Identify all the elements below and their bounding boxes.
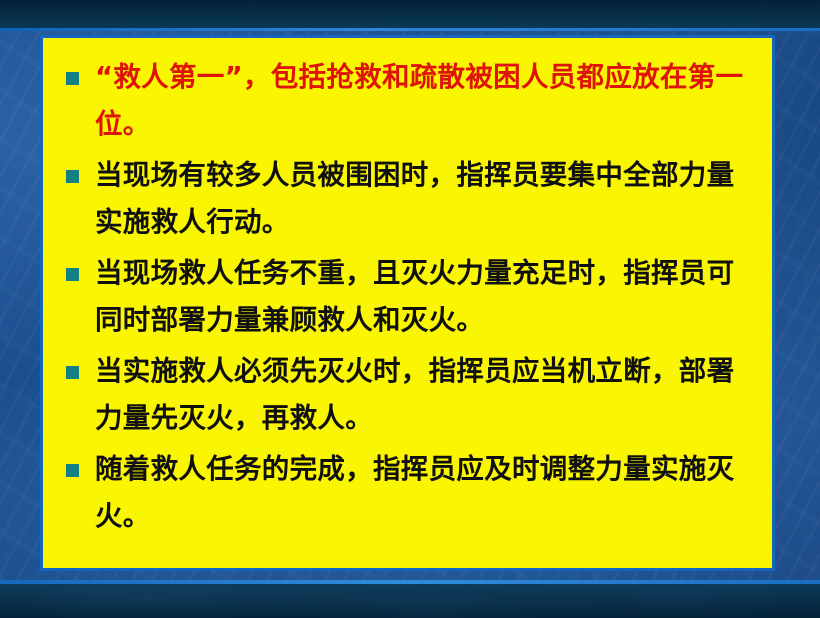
slide-top-accent-line — [0, 28, 820, 31]
list-item: 当实施救人必须先灭火时，指挥员应当机立断，部署力量先灭火，再救人。 — [57, 348, 758, 442]
list-item: 当现场有较多人员被围困时，指挥员要集中全部力量实施救人行动。 — [57, 152, 758, 246]
slide-bottom-band-texture — [0, 584, 820, 618]
bullet-list: “救人第一”，包括抢救和疏散被困人员都应放在第一位。 当现场有较多人员被围困时，… — [43, 38, 772, 540]
bullet-text: “救人第一”，包括抢救和疏散被困人员都应放在第一位。 — [95, 54, 758, 148]
list-item: 随着救人任务的完成，指挥员应及时调整力量实施灭火。 — [57, 446, 758, 540]
bullet-text: 当现场救人任务不重，且灭火力量充足时，指挥员可同时部署力量兼顾救人和灭火。 — [95, 250, 758, 344]
square-bullet-icon — [66, 366, 79, 379]
presentation-slide: “救人第一”，包括抢救和疏散被困人员都应放在第一位。 当现场有较多人员被围困时，… — [0, 0, 820, 618]
square-bullet-icon — [66, 170, 79, 183]
slide-top-band — [0, 0, 820, 30]
content-panel: “救人第一”，包括抢救和疏散被困人员都应放在第一位。 当现场有较多人员被围困时，… — [40, 35, 775, 571]
bullet-text: 当实施救人必须先灭火时，指挥员应当机立断，部署力量先灭火，再救人。 — [95, 348, 758, 442]
list-item: “救人第一”，包括抢救和疏散被困人员都应放在第一位。 — [57, 54, 758, 148]
bullet-text: 当现场有较多人员被围困时，指挥员要集中全部力量实施救人行动。 — [95, 152, 758, 246]
bullet-text: 随着救人任务的完成，指挥员应及时调整力量实施灭火。 — [95, 446, 758, 540]
list-item: 当现场救人任务不重，且灭火力量充足时，指挥员可同时部署力量兼顾救人和灭火。 — [57, 250, 758, 344]
square-bullet-icon — [66, 464, 79, 477]
square-bullet-icon — [66, 268, 79, 281]
square-bullet-icon — [66, 72, 79, 85]
